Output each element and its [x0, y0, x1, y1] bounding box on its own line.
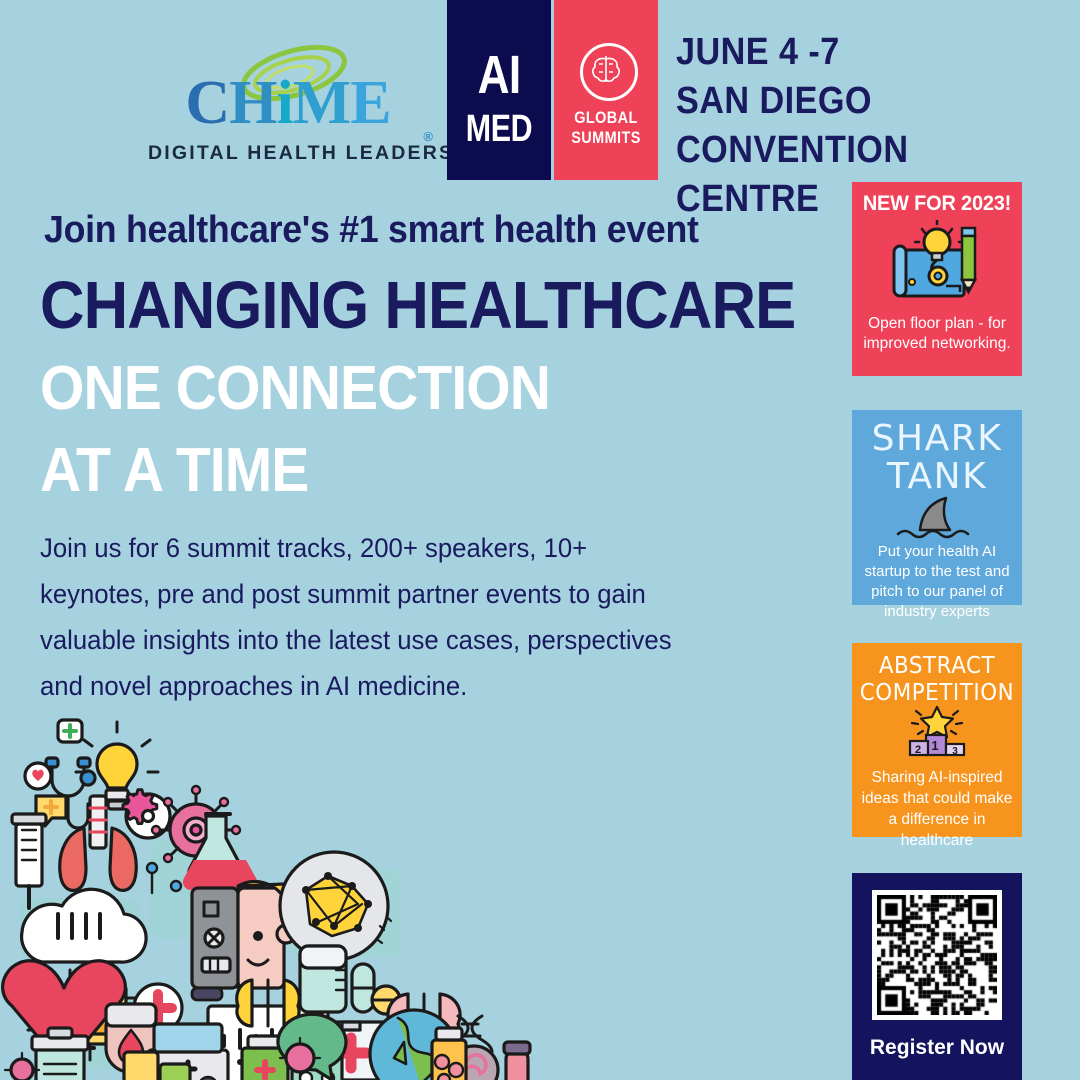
blueprint-lightbulb-pencil-icon	[890, 220, 984, 306]
card-shark-title: SHARK TANK	[852, 420, 1022, 496]
aimed-logo: AI MED	[447, 0, 551, 180]
card-shark-title-line2: TANK	[852, 458, 1022, 496]
card-shark-caption: Put your health AI startup to the test a…	[858, 542, 1016, 622]
headline-secondary-line1: ONE CONNECTION	[40, 358, 550, 420]
event-city: SAN DIEGO	[676, 77, 1040, 126]
aimed-med-text: MED	[457, 110, 540, 148]
card-new-for-2023[interactable]: NEW FOR 2023! Open floor plan - for impr…	[852, 182, 1022, 376]
chime-tagline: DIGITAL HEALTH LEADERS	[148, 142, 428, 165]
card-register[interactable]: Register Now	[852, 873, 1022, 1080]
summits-line1: GLOBAL	[562, 108, 650, 127]
brain-circle-icon	[580, 43, 638, 101]
event-date: JUNE 4 -7	[676, 28, 1040, 77]
svg-text:3: 3	[952, 746, 958, 757]
hero-body-copy: Join us for 6 summit tracks, 200+ speake…	[40, 525, 692, 709]
chime-logo: CHiME ® DIGITAL HEALTH LEADERS	[148, 42, 428, 170]
global-summits-logo: GLOBAL SUMMITS	[554, 0, 658, 180]
svg-text:2: 2	[915, 744, 921, 756]
card-shark-tank[interactable]: SHARK TANK Put your health AI startup to…	[852, 410, 1022, 605]
register-now-label: Register Now	[852, 1036, 1022, 1060]
hero-tagline: Join healthcare's #1 smart health event	[44, 209, 699, 252]
promo-poster: CHiME ® DIGITAL HEALTH LEADERS AI MED GL…	[0, 0, 1080, 1080]
card-new-caption: Open floor plan - for improved networkin…	[860, 314, 1014, 354]
star-podium-icon: 1 2 3	[902, 705, 972, 763]
card-abstract-caption: Sharing AI-inspired ideas that could mak…	[858, 767, 1016, 851]
card-abstract-title: ABSTRACT COMPETITION	[858, 653, 1016, 707]
card-new-title: NEW FOR 2023!	[856, 192, 1018, 216]
card-abstract-competition[interactable]: ABSTRACT COMPETITION 1 2 3 Sharing AI-in…	[852, 643, 1022, 837]
healthcare-ai-collage: IA	[0, 718, 560, 1080]
chime-wordmark: CHiME ®	[148, 70, 428, 136]
headline-secondary-line2: AT A TIME	[40, 440, 308, 502]
qr-code-icon[interactable]	[872, 890, 1002, 1020]
card-abstract-title-line2: COMPETITION	[858, 680, 1016, 707]
card-shark-title-line1: SHARK	[852, 420, 1022, 458]
shark-fin-icon	[894, 496, 980, 540]
aimed-ai-text: AI	[456, 48, 541, 102]
card-abstract-title-line1: ABSTRACT	[858, 653, 1016, 680]
svg-text:1: 1	[931, 738, 938, 753]
headline-primary: CHANGING HEALTHCARE	[40, 272, 795, 339]
summits-line2: SUMMITS	[562, 128, 650, 147]
